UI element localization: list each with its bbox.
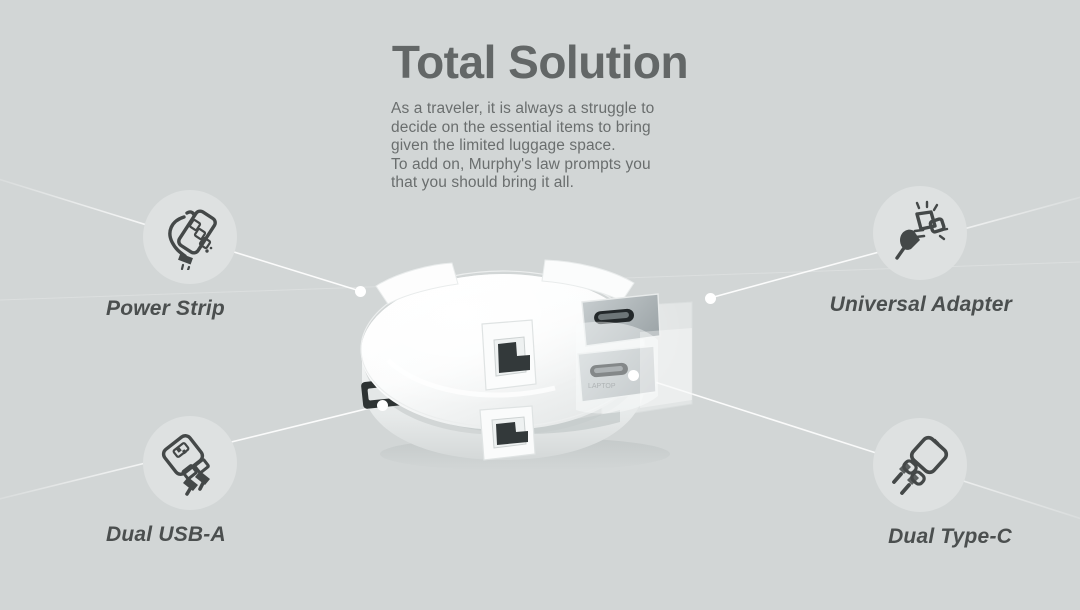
connector-dot-universal-adapter	[705, 293, 716, 304]
feature-label: Dual Type-C	[782, 525, 1022, 549]
feature-label: Universal Adapter	[782, 293, 1022, 317]
feature-icon-circle	[143, 416, 237, 510]
feature-power-strip[interactable]: Power Strip	[88, 190, 328, 321]
infographic-canvas: Total Solution As a traveler, it is alwa…	[0, 0, 1080, 610]
feature-dual-typec[interactable]: Dual Type-C	[782, 418, 1022, 549]
page-title: Total Solution	[0, 34, 1080, 90]
latch-lower	[480, 406, 535, 460]
connector-dot-dual-typec	[628, 370, 639, 381]
feature-label: Power Strip	[88, 297, 328, 321]
universal-adapter-icon	[887, 200, 953, 266]
connector-dot-dual-usba	[377, 400, 388, 411]
dual-type-c-icon	[887, 432, 953, 498]
connector-dot-power-strip	[355, 286, 366, 297]
feature-label: Dual USB-A	[88, 523, 328, 547]
feature-icon-circle	[873, 186, 967, 280]
latch-upper	[482, 320, 536, 390]
body-paragraph: As a traveler, it is always a struggle t…	[391, 100, 721, 193]
headline-block: Total Solution	[0, 34, 1080, 90]
feature-icon-circle	[873, 418, 967, 512]
power-strip-icon	[157, 204, 223, 270]
dual-usb-a-icon	[157, 430, 223, 496]
feature-universal-adapter[interactable]: Universal Adapter	[782, 186, 1022, 317]
feature-dual-usba[interactable]: Dual USB-A	[88, 416, 328, 547]
feature-icon-circle	[143, 190, 237, 284]
product-image: LAPTOP	[340, 232, 740, 477]
product-illustration: LAPTOP	[340, 232, 740, 477]
